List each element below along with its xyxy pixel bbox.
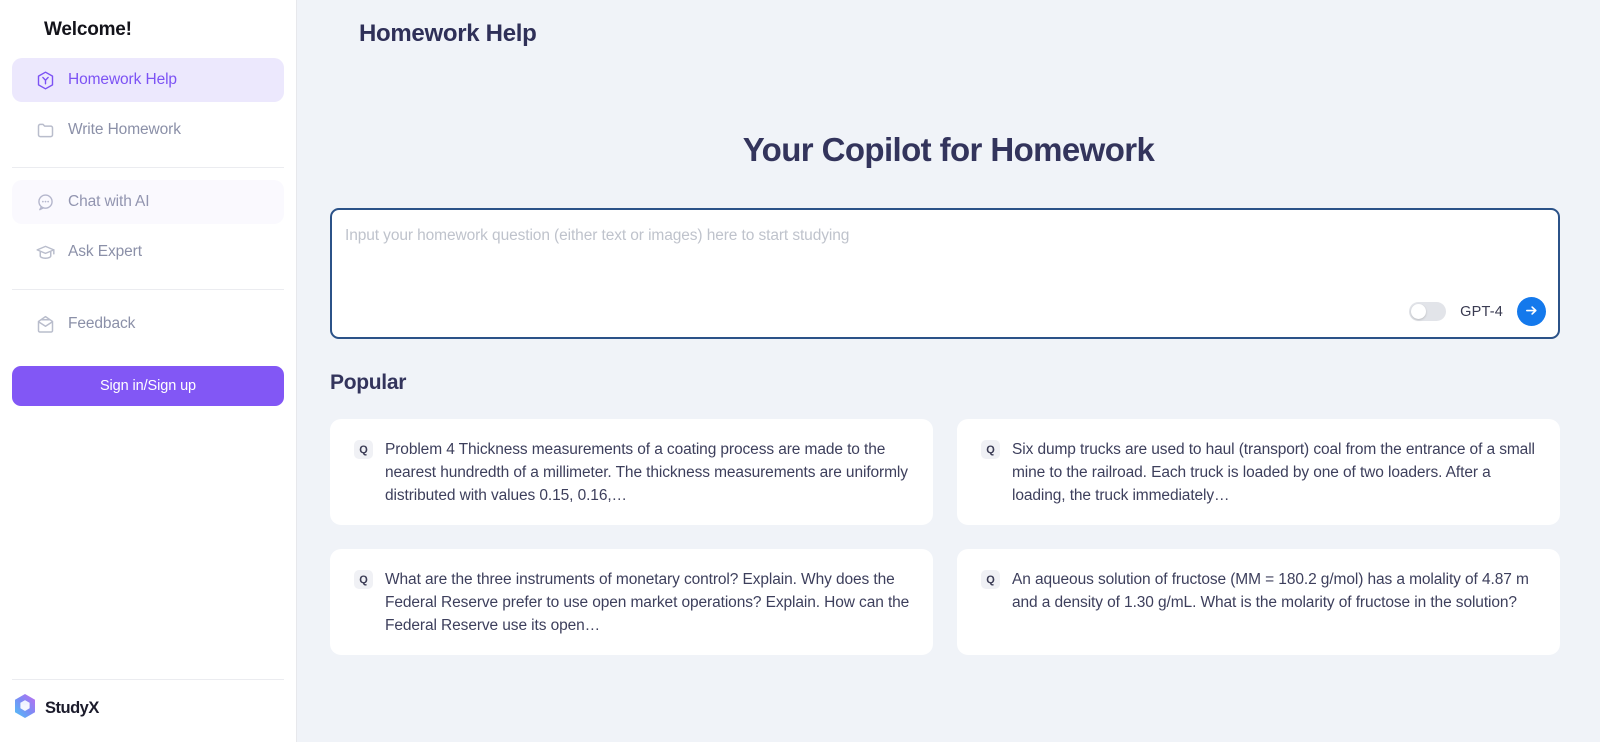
main-content: Homework Help Your Copilot for Homework … bbox=[297, 0, 1600, 742]
sidebar-divider-1 bbox=[12, 167, 284, 168]
sidebar-item-feedback[interactable]: Feedback bbox=[12, 302, 284, 346]
sign-in-sign-up-button[interactable]: Sign in/Sign up bbox=[12, 366, 284, 406]
send-button[interactable] bbox=[1517, 297, 1546, 326]
chat-bubble-icon bbox=[35, 192, 56, 213]
brand-name: StudyX bbox=[45, 699, 99, 718]
question-badge: Q bbox=[354, 570, 373, 589]
sidebar-item-chat-with-ai[interactable]: Chat with AI bbox=[12, 180, 284, 224]
nav-group-primary: Homework Help Write Homework bbox=[0, 58, 296, 158]
sidebar-item-write-homework[interactable]: Write Homework bbox=[12, 108, 284, 152]
sidebar-item-label: Feedback bbox=[68, 315, 135, 333]
compose-container: Input your homework question (either tex… bbox=[330, 208, 1560, 339]
popular-card[interactable]: Q Six dump trucks are used to haul (tran… bbox=[957, 419, 1560, 525]
app-root: Welcome! Homework Help Write Homework bbox=[0, 0, 1600, 742]
sidebar-item-label: Ask Expert bbox=[68, 243, 142, 261]
arrow-right-icon bbox=[1524, 303, 1539, 321]
sidebar-item-homework-help[interactable]: Homework Help bbox=[12, 58, 284, 102]
question-badge: Q bbox=[981, 570, 1000, 589]
model-toggle[interactable] bbox=[1409, 302, 1446, 321]
popular-cards-grid: Q Problem 4 Thickness measurements of a … bbox=[330, 419, 1560, 655]
popular-card-text: Six dump trucks are used to haul (transp… bbox=[1012, 438, 1538, 525]
hexagon-y-icon bbox=[35, 70, 56, 91]
question-input[interactable]: Input your homework question (either tex… bbox=[330, 208, 1560, 339]
sidebar-divider-2 bbox=[12, 289, 284, 290]
sidebar-item-label: Chat with AI bbox=[68, 193, 150, 211]
question-badge: Q bbox=[981, 440, 1000, 459]
envelope-icon bbox=[35, 314, 56, 335]
folder-icon bbox=[35, 120, 56, 141]
popular-card[interactable]: Q An aqueous solution of fructose (MM = … bbox=[957, 549, 1560, 655]
popular-section-title: Popular bbox=[330, 371, 1600, 395]
popular-card-text: Problem 4 Thickness measurements of a co… bbox=[385, 438, 911, 525]
nav-group-tertiary: Feedback bbox=[0, 302, 296, 352]
sidebar-item-ask-expert[interactable]: Ask Expert bbox=[12, 230, 284, 274]
hero-title: Your Copilot for Homework bbox=[297, 131, 1600, 169]
popular-card[interactable]: Q Problem 4 Thickness measurements of a … bbox=[330, 419, 933, 525]
popular-card-text: An aqueous solution of fructose (MM = 18… bbox=[1012, 568, 1538, 655]
sidebar-item-label: Write Homework bbox=[68, 121, 181, 139]
sidebar-item-label: Homework Help bbox=[68, 71, 177, 89]
studyx-hexagon-logo-icon bbox=[13, 693, 37, 724]
sidebar: Welcome! Homework Help Write Homework bbox=[0, 0, 297, 742]
model-label: GPT-4 bbox=[1460, 304, 1503, 320]
brand-logo[interactable]: StudyX bbox=[0, 680, 296, 742]
popular-card-text: What are the three instruments of moneta… bbox=[385, 568, 911, 655]
model-toggle-knob bbox=[1411, 304, 1426, 319]
question-badge: Q bbox=[354, 440, 373, 459]
compose-controls: GPT-4 bbox=[1409, 297, 1546, 326]
question-input-placeholder: Input your homework question (either tex… bbox=[345, 227, 849, 245]
signin-container: Sign in/Sign up bbox=[0, 352, 296, 406]
popular-card[interactable]: Q What are the three instruments of mone… bbox=[330, 549, 933, 655]
welcome-heading: Welcome! bbox=[0, 0, 296, 58]
nav-group-secondary: Chat with AI Ask Expert bbox=[0, 180, 296, 280]
graduation-cap-icon bbox=[35, 242, 56, 263]
sidebar-spacer bbox=[0, 406, 296, 679]
page-title: Homework Help bbox=[297, 0, 1600, 48]
